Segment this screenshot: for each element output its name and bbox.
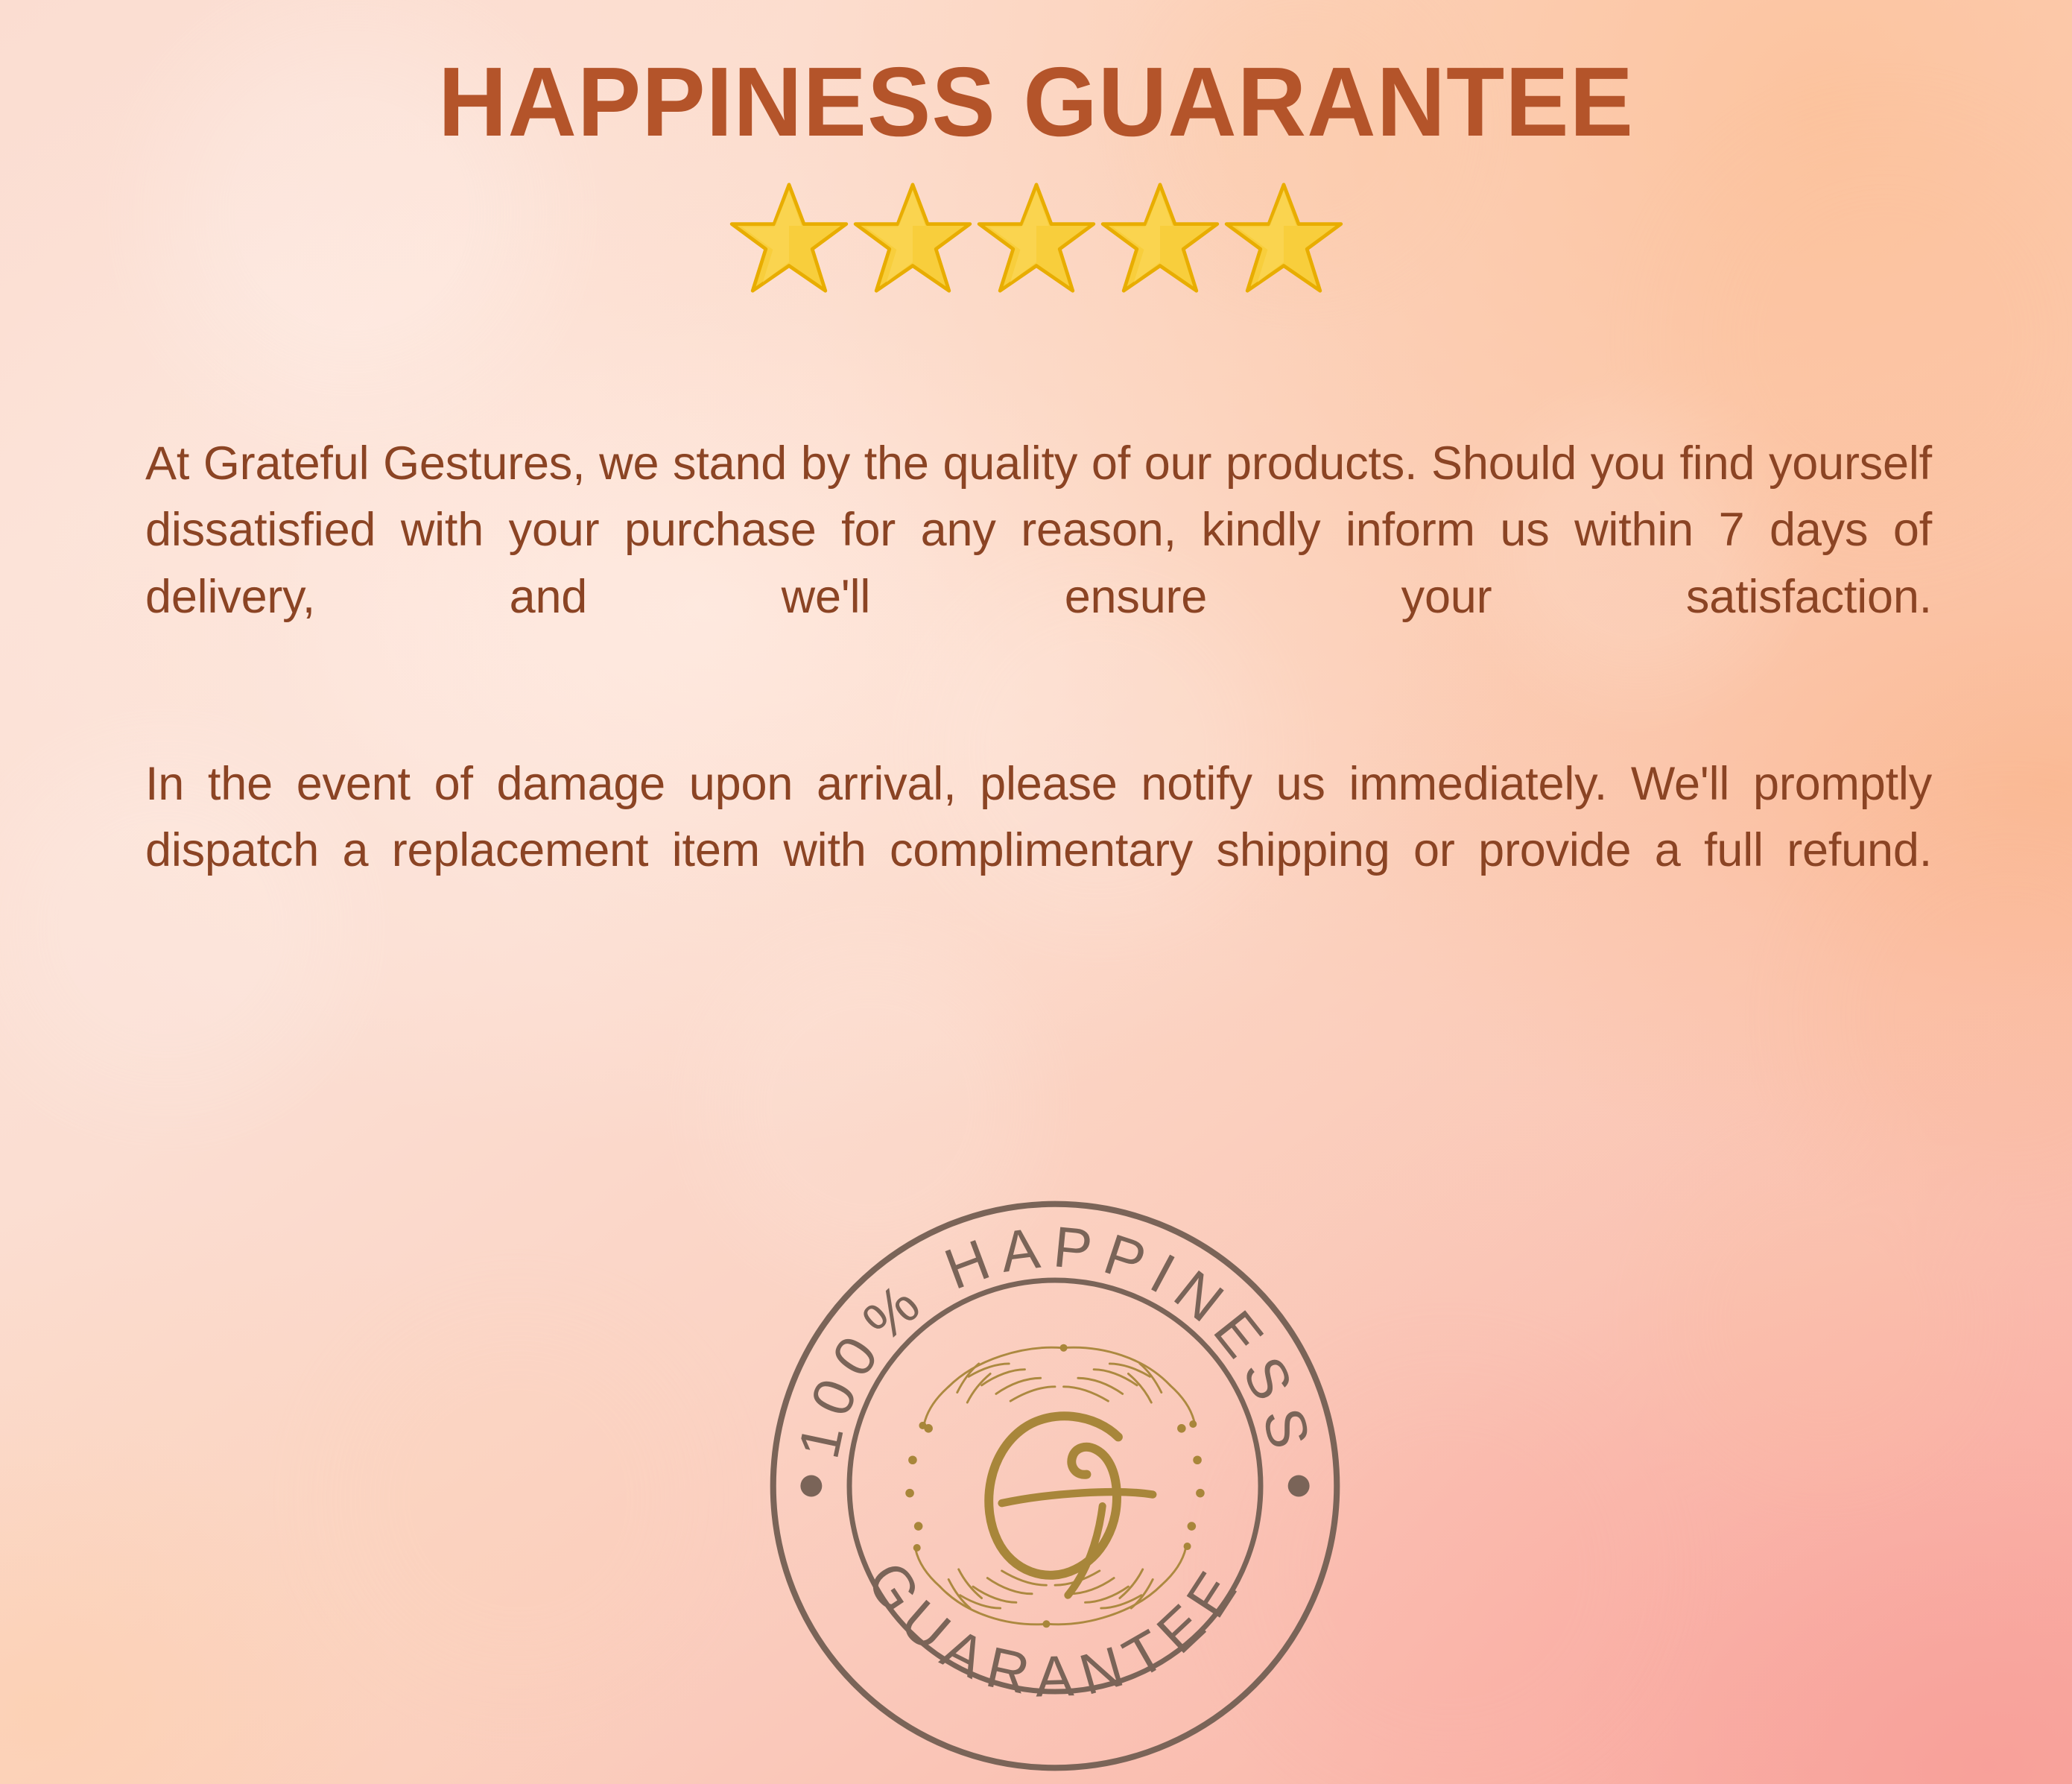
seal-left-dot (800, 1475, 822, 1497)
seal-right-dot (1288, 1475, 1310, 1497)
guarantee-seal-badge: 100% HAPPINESS GUARANTEE (767, 1198, 1343, 1774)
page-title: HAPPINESS GUARANTEE (31, 51, 2041, 153)
happiness-guarantee-poster: HAPPINESS GUARANTEE (0, 0, 2072, 1784)
star-icon (853, 181, 972, 294)
star-rating (0, 181, 2072, 294)
star-icon (977, 181, 1096, 294)
guarantee-body: At Grateful Gestures, we stand by the qu… (145, 431, 1932, 951)
monogram-emblem (905, 1344, 1204, 1628)
star-icon (1224, 181, 1343, 294)
star-icon (729, 181, 849, 294)
poster-content: HAPPINESS GUARANTEE (0, 0, 2072, 1784)
monogram-letter-g (989, 1416, 1153, 1595)
seal-top-text: 100% HAPPINESS (787, 1215, 1324, 1464)
paragraph-damage-policy: In the event of damage upon arrival, ple… (145, 751, 1932, 951)
paragraph-quality-promise: At Grateful Gestures, we stand by the qu… (145, 431, 1932, 698)
star-icon (1100, 181, 1220, 294)
dotted-arc-right (1177, 1424, 1205, 1531)
dotted-arc-left (905, 1424, 933, 1531)
